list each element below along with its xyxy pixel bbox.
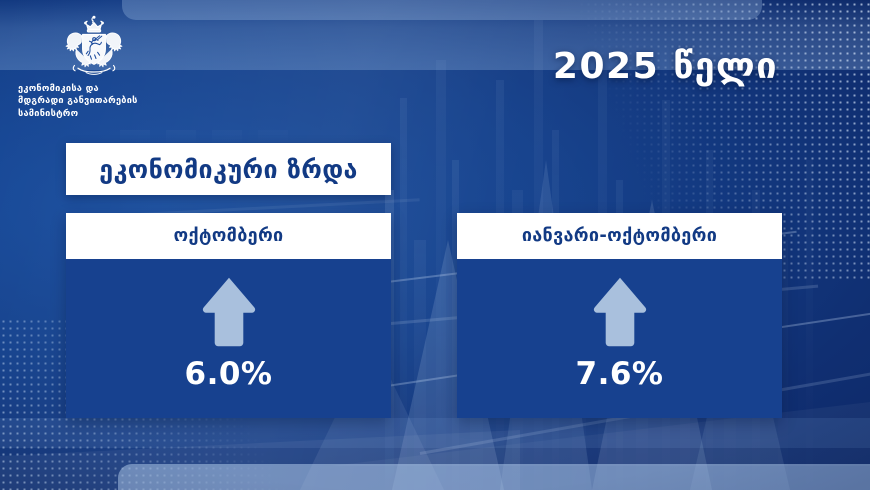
year-label: 2025 წელი [553, 46, 778, 87]
page-title: ეკონომიკური ზრდა [66, 143, 391, 195]
arrow-up-icon [201, 276, 257, 348]
metric-period-label: იანვარი-ოქტომბერი [522, 227, 717, 245]
metric-value: 6.0% [185, 359, 273, 390]
metric-card-october: ოქტომბერი 6.0% [66, 213, 391, 418]
metric-period-label: ოქტომბერი [173, 227, 283, 245]
metric-value: 7.6% [576, 359, 664, 390]
metric-card-january-october: იანვარი-ოქტომბერი 7.6% [457, 213, 782, 418]
ministry-logo: ეკონომიკისა და მდგრადი განვითარების სამი… [10, 14, 178, 120]
infographic-canvas: ეკონომიკისა და მდგრადი განვითარების სამი… [0, 0, 870, 490]
page-title-text: ეკონომიკური ზრდა [99, 157, 358, 182]
arrow-up-icon [592, 276, 648, 348]
metric-card-header: იანვარი-ოქტომბერი [457, 213, 782, 259]
georgia-coat-of-arms-icon [54, 14, 134, 76]
metric-card-body: 6.0% [66, 259, 391, 418]
metric-card-header: ოქტომბერი [66, 213, 391, 259]
ministry-name: ეკონომიკისა და მდგრადი განვითარების სამი… [10, 83, 178, 120]
metric-card-body: 7.6% [457, 259, 782, 418]
